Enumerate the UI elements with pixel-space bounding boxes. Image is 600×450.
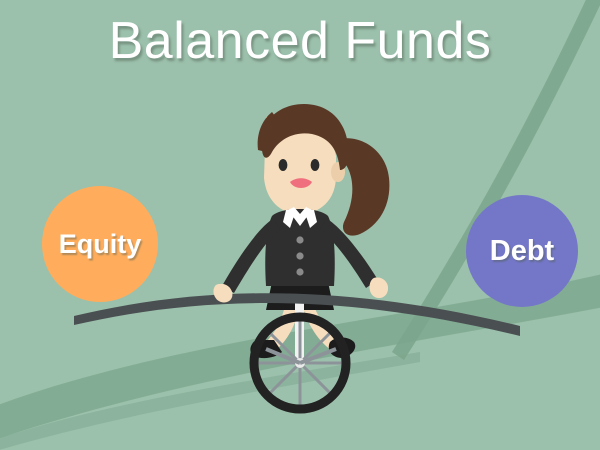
badge-equity: Equity <box>42 186 158 302</box>
jacket-button-2 <box>296 252 303 259</box>
jacket-button-1 <box>296 236 303 243</box>
eye-left <box>279 159 288 171</box>
page-title: Balanced Funds <box>0 14 600 69</box>
badge-equity-label: Equity <box>59 229 142 260</box>
poster-canvas: Balanced Funds Equity Debt <box>0 0 600 450</box>
badge-debt: Debt <box>466 195 578 307</box>
eye-right <box>311 159 320 171</box>
jacket-button-3 <box>296 268 303 275</box>
badge-debt-label: Debt <box>490 235 554 268</box>
